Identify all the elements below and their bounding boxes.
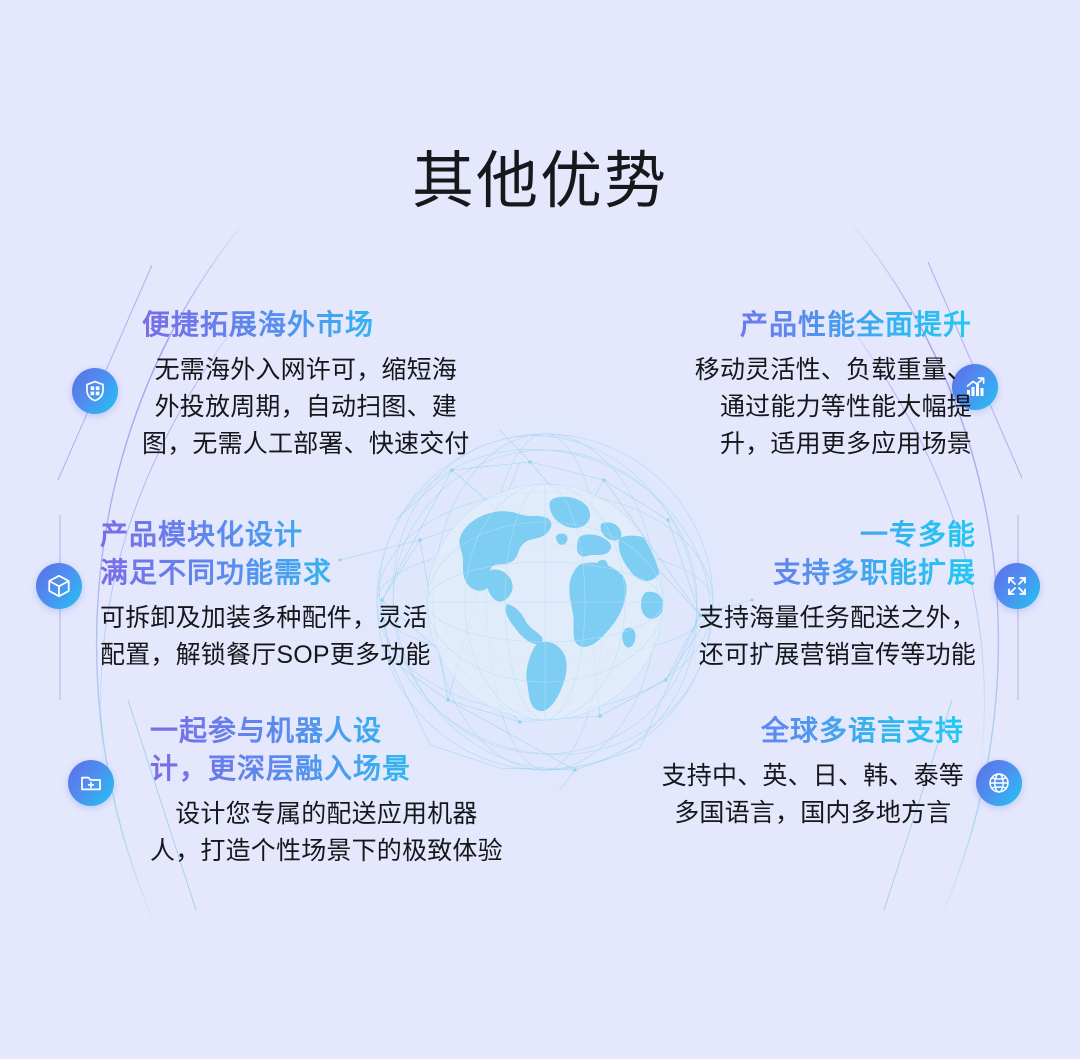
feature-codesign-body-line-2: 人，打造个性场景下的极致体验 bbox=[150, 833, 503, 870]
globe-icon-badge[interactable] bbox=[976, 760, 1022, 806]
folder-plus-icon-badge[interactable] bbox=[68, 760, 114, 806]
feature-modular-body-line-2: 配置，解锁餐厅SOP更多功能 bbox=[100, 637, 431, 674]
shield-icon-badge[interactable] bbox=[72, 368, 118, 414]
cube-icon bbox=[46, 573, 72, 599]
feature-modular-heading-line-2: 满足不同功能需求 bbox=[100, 554, 431, 592]
feature-performance-heading-line-1: 产品性能全面提升 bbox=[695, 306, 972, 344]
feature-modular: 产品模块化设计 满足不同功能需求 可拆卸及加装多种配件，灵活 配置，解锁餐厅SO… bbox=[100, 516, 431, 674]
feature-overseas-body-line-1: 无需海外入网许可，缩短海 bbox=[142, 352, 470, 389]
page-title: 其他优势 bbox=[0, 146, 1080, 218]
expand-arrows-icon bbox=[1005, 574, 1029, 598]
cube-icon-badge[interactable] bbox=[36, 563, 82, 609]
feature-codesign-heading-line-2: 计，更深层融入场景 bbox=[150, 750, 503, 788]
shield-icon bbox=[83, 379, 107, 403]
feature-multirole-heading-line-2: 支持多职能扩展 bbox=[699, 554, 976, 592]
feature-modular-body-line-1: 可拆卸及加装多种配件，灵活 bbox=[100, 600, 431, 637]
feature-language-body-line-2: 多国语言，国内多地方言 bbox=[662, 795, 964, 832]
feature-multirole: 一专多能 支持多职能扩展 支持海量任务配送之外， 还可扩展营销宣传等功能 bbox=[699, 516, 976, 674]
feature-codesign-body-line-1: 设计您专属的配送应用机器 bbox=[150, 796, 503, 833]
feature-multirole-body-line-1: 支持海量任务配送之外， bbox=[699, 600, 976, 637]
world-globe-graphic bbox=[395, 452, 695, 752]
feature-language-heading-line-1: 全球多语言支持 bbox=[662, 712, 964, 750]
feature-codesign-heading-line-1: 一起参与机器人设 bbox=[150, 712, 503, 750]
feature-overseas-body-line-3: 图，无需人工部署、快速交付 bbox=[142, 426, 470, 463]
feature-multirole-heading-line-1: 一专多能 bbox=[699, 516, 976, 554]
infographic-canvas: 其他优势 bbox=[0, 0, 1080, 1059]
feature-multirole-body-line-2: 还可扩展营销宣传等功能 bbox=[699, 637, 976, 674]
feature-overseas-heading-line-1: 便捷拓展海外市场 bbox=[142, 306, 470, 344]
feature-language-body-line-1: 支持中、英、日、韩、泰等 bbox=[662, 758, 964, 795]
feature-performance: 产品性能全面提升 移动灵活性、负载重量、 通过能力等性能大幅提 升，适用更多应用… bbox=[695, 306, 972, 463]
feature-codesign: 一起参与机器人设 计，更深层融入场景 设计您专属的配送应用机器 人，打造个性场景… bbox=[150, 712, 503, 870]
feature-modular-heading-line-1: 产品模块化设计 bbox=[100, 516, 431, 554]
feature-overseas: 便捷拓展海外市场 无需海外入网许可，缩短海 外投放周期，自动扫图、建 图，无需人… bbox=[142, 306, 470, 463]
feature-performance-body-line-1: 移动灵活性、负载重量、 bbox=[695, 352, 972, 389]
feature-overseas-body-line-2: 外投放周期，自动扫图、建 bbox=[142, 389, 470, 426]
feature-performance-body-line-2: 通过能力等性能大幅提 bbox=[695, 389, 972, 426]
folder-plus-icon bbox=[79, 771, 103, 795]
feature-language: 全球多语言支持 支持中、英、日、韩、泰等 多国语言，国内多地方言 bbox=[662, 712, 964, 832]
globe-icon bbox=[987, 771, 1011, 795]
expand-arrows-icon-badge[interactable] bbox=[994, 563, 1040, 609]
feature-performance-body-line-3: 升，适用更多应用场景 bbox=[695, 426, 972, 463]
